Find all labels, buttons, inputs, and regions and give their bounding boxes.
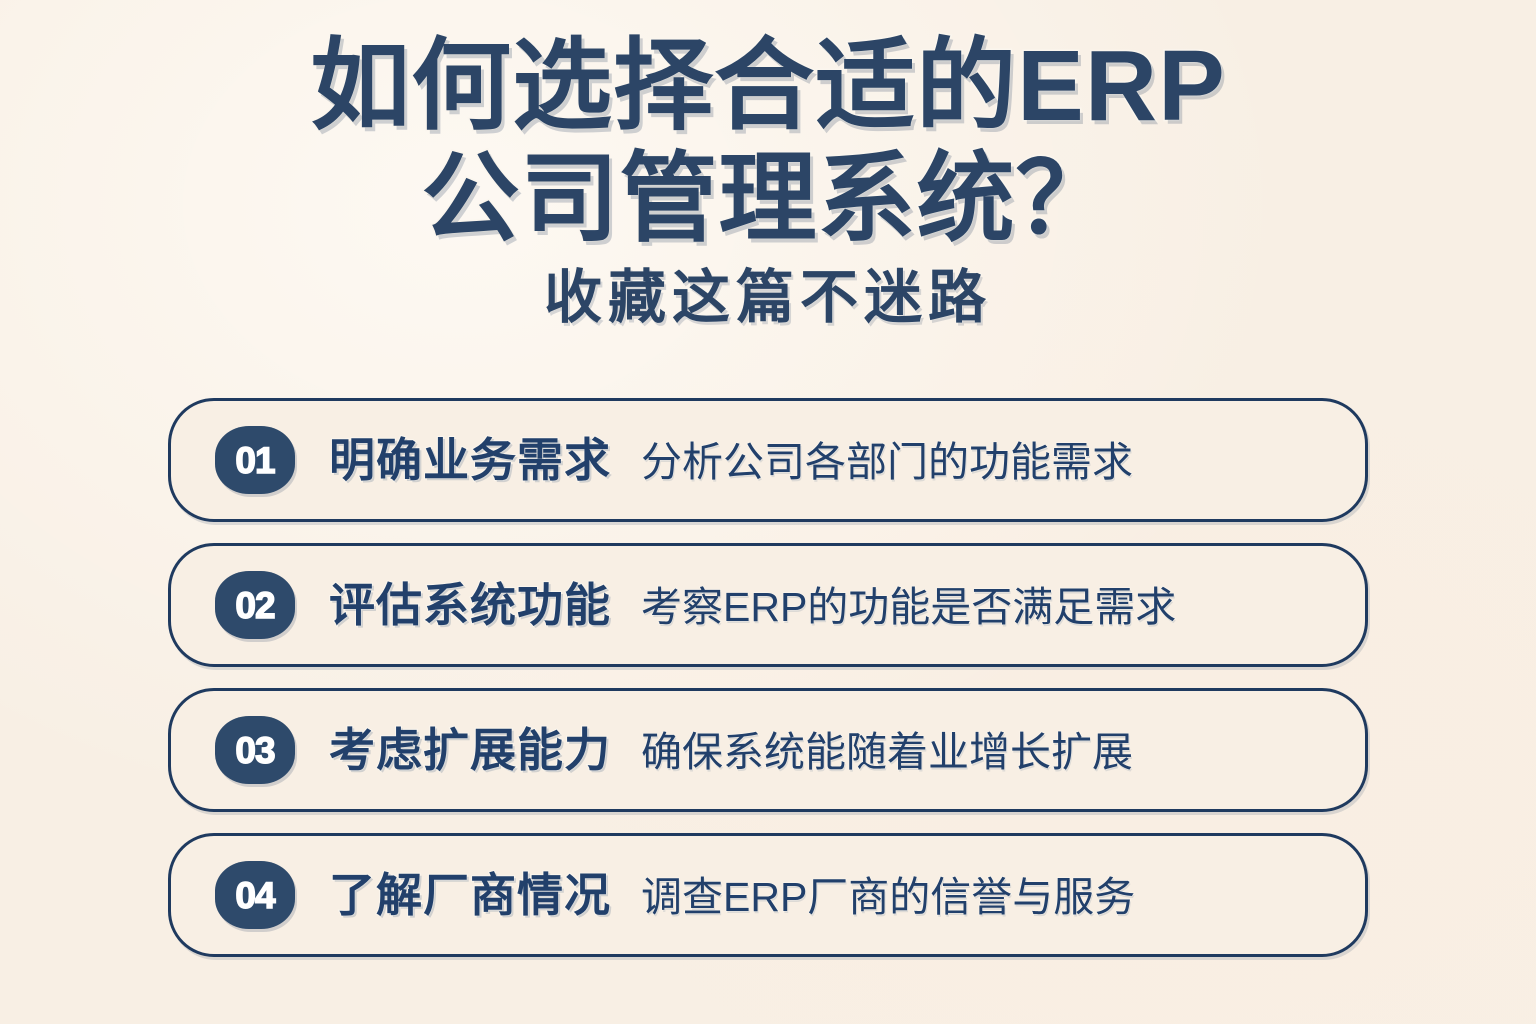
step-card-04[interactable]: 04 了解厂商情况 调查ERP厂商的信誉与服务 [168, 833, 1368, 957]
step-text-group: 明确业务需求 分析公司各部门的功能需求 [329, 437, 1133, 483]
step-number-label: 01 [235, 442, 274, 479]
step-card-03[interactable]: 03 考虑扩展能力 确保系统能随着业增长扩展 [168, 688, 1368, 812]
step-card-01[interactable]: 01 明确业务需求 分析公司各部门的功能需求 [168, 398, 1368, 522]
step-description: 考察ERP的功能是否满足需求 [641, 587, 1176, 628]
step-card-02[interactable]: 02 评估系统功能 考察ERP的功能是否满足需求 [168, 543, 1368, 667]
poster-title-line-2: 公司管理系统？ [0, 143, 1536, 254]
erp-selection-poster: 如何选择合适的ERP 公司管理系统？ 收藏这篇不迷路 01 明确业务需求 分析公… [0, 0, 1536, 1024]
step-description: 调查ERP厂商的信誉与服务 [641, 877, 1135, 918]
step-number-badge: 03 [215, 716, 295, 784]
step-text-group: 考虑扩展能力 确保系统能随着业增长扩展 [329, 727, 1133, 773]
step-card-list: 01 明确业务需求 分析公司各部门的功能需求 02 评估系统功能 考察ERP的功… [168, 398, 1368, 957]
step-description: 分析公司各部门的功能需求 [641, 442, 1133, 483]
step-title: 明确业务需求 [329, 437, 611, 483]
poster-subtitle: 收藏这篇不迷路 [0, 266, 1536, 330]
step-text-group: 评估系统功能 考察ERP的功能是否满足需求 [329, 582, 1176, 628]
step-title: 考虑扩展能力 [329, 727, 611, 773]
step-number-label: 03 [235, 732, 274, 769]
step-number-label: 02 [235, 587, 274, 624]
step-title: 了解厂商情况 [329, 872, 611, 918]
poster-title-line-1: 如何选择合适的ERP [0, 30, 1536, 143]
poster-header: 如何选择合适的ERP 公司管理系统？ 收藏这篇不迷路 [0, 0, 1536, 330]
step-text-group: 了解厂商情况 调查ERP厂商的信誉与服务 [329, 872, 1135, 918]
step-number-badge: 02 [215, 571, 295, 639]
step-description: 确保系统能随着业增长扩展 [641, 732, 1133, 773]
step-number-label: 04 [235, 877, 274, 914]
step-number-badge: 01 [215, 426, 295, 494]
step-number-badge: 04 [215, 861, 295, 929]
step-title: 评估系统功能 [329, 582, 611, 628]
